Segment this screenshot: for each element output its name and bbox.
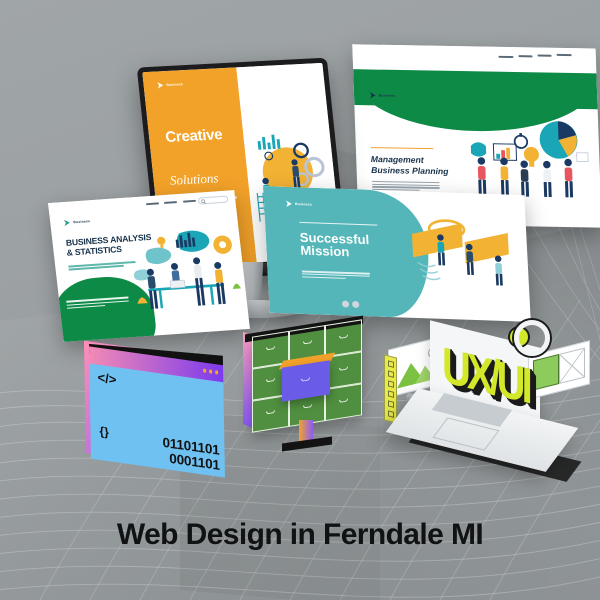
page-title: Web Design in Ferndale MI <box>0 518 600 552</box>
sm-title-line2: Mission <box>300 243 350 260</box>
filing-cabinet[interactable] <box>252 328 362 424</box>
arrow-logo-icon <box>63 218 72 226</box>
binary-code-text: 01101101 0001101 <box>162 435 220 473</box>
poster-canvas: Business Management Business Planning <box>0 0 600 600</box>
ba-logo: Business <box>63 217 91 227</box>
card-successful-mission[interactable]: Business Successful Mission <box>263 186 531 322</box>
arrow-logo-icon <box>285 199 294 207</box>
creative-subhead: Solutions <box>169 170 219 188</box>
tool-icon[interactable] <box>388 360 394 367</box>
ba-title-line2: & STATISTICS <box>66 244 122 258</box>
code-tag-icon: </> <box>97 370 116 388</box>
monitor-logo: Business <box>156 80 184 89</box>
arrow-logo-icon <box>368 91 376 99</box>
tool-icon[interactable] <box>388 410 394 417</box>
mbp-nav-dash[interactable] <box>499 56 514 58</box>
ba-blurb-placeholder <box>66 297 129 311</box>
ba-logo-text: Business <box>73 219 90 224</box>
mbp-logo: Business <box>368 91 395 99</box>
cross-icon <box>560 349 584 383</box>
uxui-laptop-scene[interactable]: UX/UI <box>386 322 586 482</box>
creative-headline: Creative <box>165 127 224 146</box>
cabinet-drawer[interactable] <box>325 383 362 421</box>
sm-logo-text: Business <box>295 202 312 207</box>
tool-icon[interactable] <box>388 370 394 377</box>
open-drawer-handle[interactable] <box>301 377 310 381</box>
arrow-logo-icon <box>156 81 165 89</box>
sm-illustration <box>399 201 525 317</box>
tool-icon[interactable] <box>388 390 394 397</box>
monitor-logo-text: Business <box>166 82 183 87</box>
mbp-nav-dash[interactable] <box>518 55 533 57</box>
mbp-logo-text: Business <box>379 93 396 97</box>
mbp-nav-dash[interactable] <box>557 54 572 56</box>
card-business-analysis[interactable]: Business BUSINESS ANALYSIS & STATISTICS <box>48 190 250 342</box>
sm-pagination-dots[interactable] <box>342 301 360 309</box>
sm-title: Successful Mission <box>299 230 370 259</box>
toolbar-panel[interactable] <box>384 354 397 423</box>
gear-icon <box>514 320 550 356</box>
wireframe-filled-block <box>533 354 559 390</box>
search-icon <box>201 199 207 204</box>
tool-icon[interactable] <box>388 380 394 387</box>
code-window-body: </> {} 01101101 0001101 <box>89 363 225 477</box>
mbp-title-line2: Business Planning <box>371 165 449 176</box>
sm-logo: Business <box>285 199 312 208</box>
mbp-kicker-rule <box>370 147 433 150</box>
window-control-dots[interactable] <box>203 368 219 374</box>
code-browser-window[interactable]: </> {} 01101101 0001101 <box>89 346 225 477</box>
mbp-title: Management Business Planning <box>371 154 449 177</box>
mbp-nav-dash[interactable] <box>537 54 552 56</box>
code-brace-icon: {} <box>99 424 109 439</box>
ba-illustration <box>114 212 250 334</box>
wireframe-placeholder-block <box>559 348 585 384</box>
mbp-title-line1: Management <box>371 154 424 165</box>
tool-icon[interactable] <box>388 400 394 407</box>
